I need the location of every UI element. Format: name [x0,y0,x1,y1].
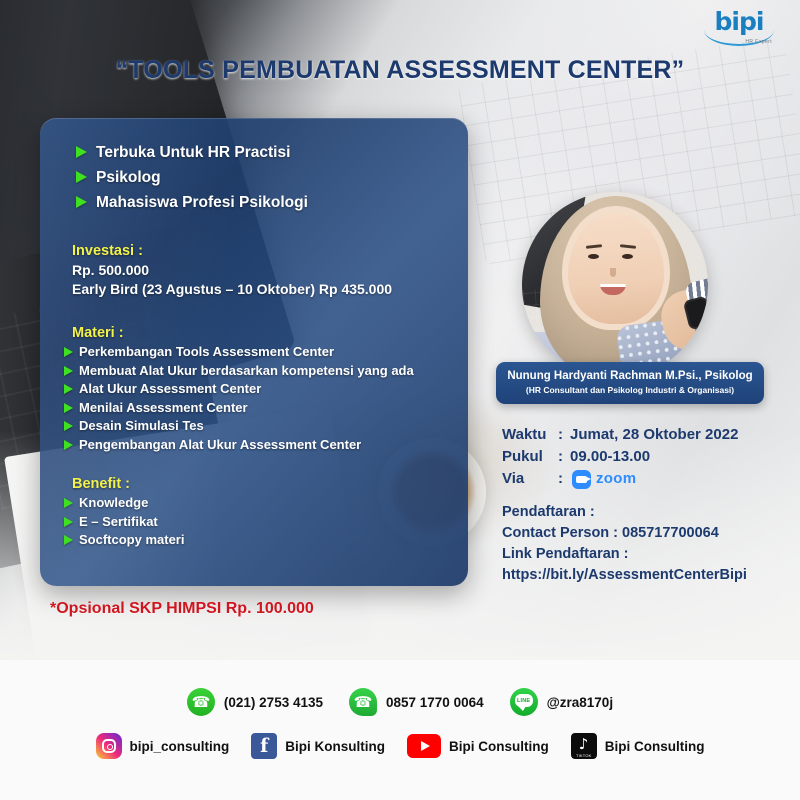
list-item: Knowledge [64,494,446,512]
page-title: “TOOLS PEMBUATAN ASSESSMENT CENTER” [0,56,800,85]
footer-background [0,660,800,800]
materi-label: Desain Simulasi Tes [79,417,204,435]
materi-heading: Materi : [72,325,446,341]
tiktok-note-glyph: ♪ [579,737,589,752]
bipi-logo-tagline: HR Expert [702,39,776,45]
audience-label: Mahasiswa Profesi Psikologi [96,192,308,213]
main-content-panel: Terbuka Untuk HR Practisi Psikolog Mahas… [40,118,468,586]
audience-label: Psikolog [96,167,161,188]
contact-line-label: @zra8170j [547,695,613,710]
arrow-bullet-icon [76,146,87,158]
social-facebook[interactable]: f Bipi Konsulting [251,733,385,759]
social-instagram-label: bipi_consulting [130,739,230,754]
arrow-bullet-icon [64,403,73,413]
registration-block: Pendaftaran : Contact Person : 085717700… [502,502,747,586]
schedule-row-pukul: Pukul : 09.00-13.00 [502,446,738,468]
phone-icon: ☎ [187,688,215,716]
via-label: Via [502,468,558,490]
arrow-bullet-icon [76,196,87,208]
bipi-logo: bipi HR Expert [702,12,776,52]
benefit-label: Knowledge [79,494,148,512]
audience-label: Terbuka Untuk HR Practisi [96,142,290,163]
spacer [64,454,446,476]
arrow-bullet-icon [64,498,73,508]
list-item: Pengembangan Alat Ukur Assessment Center [64,436,446,454]
zoom-camera-glyph [576,476,587,483]
materi-label: Pengembangan Alat Ukur Assessment Center [79,436,361,454]
arrow-bullet-icon [64,517,73,527]
instagram-icon [96,733,122,759]
tiktok-icon-label: TIKTOK [571,753,597,758]
benefit-label: Socftcopy materi [79,531,184,549]
youtube-icon [407,734,441,758]
registration-contact-person: Contact Person : 085717700064 [502,523,747,544]
list-item: Membuat Alat Ukur berdasarkan kompetensi… [64,362,446,380]
registration-link-url[interactable]: https://bit.ly/AssessmentCenterBipi [502,565,747,586]
contact-whatsapp-label: 0857 1770 0064 [386,695,484,710]
spacer [64,217,446,243]
social-youtube[interactable]: Bipi Consulting [407,734,549,758]
contact-phone-label: (021) 2753 4135 [224,695,323,710]
audience-list: Terbuka Untuk HR Practisi Psikolog Mahas… [64,142,446,213]
waktu-label: Waktu [502,424,558,446]
waktu-value: Jumat, 28 Oktober 2022 [570,424,738,446]
contact-row: ☎ (021) 2753 4135 ☎ 0857 1770 0064 LINE … [0,688,800,716]
social-tiktok[interactable]: ♪ TIKTOK Bipi Consulting [571,733,705,759]
colon-separator: : [558,446,570,468]
social-row: bipi_consulting f Bipi Konsulting Bipi C… [0,733,800,759]
zoom-logo: zoom [572,468,636,490]
materi-list: Perkembangan Tools Assessment Center Mem… [64,343,446,453]
colon-separator: : [558,424,570,446]
portrait-eye-right [622,254,633,259]
investasi-price: Rp. 500.000 [72,261,446,280]
list-item: Terbuka Untuk HR Practisi [64,142,446,163]
arrow-bullet-icon [64,366,73,376]
bipi-logo-mark: bipi [702,12,776,32]
youtube-play-glyph [421,741,430,751]
zoom-camera-icon [572,470,591,489]
arrow-bullet-icon [64,440,73,450]
poster-canvas: bipi HR Expert “TOOLS PEMBUATAN ASSESSME… [0,0,800,800]
social-facebook-label: Bipi Konsulting [285,739,385,754]
line-icon-label: LINE [515,694,533,707]
investasi-earlybird: Early Bird (23 Agustus – 10 Oktober) Rp … [72,280,446,299]
speaker-name: Nunung Hardyanti Rachman M.Psi., Psikolo… [504,369,756,383]
benefit-label: E – Sertifikat [79,513,158,531]
social-instagram[interactable]: bipi_consulting [96,733,230,759]
speaker-portrait [522,192,708,378]
contact-whatsapp[interactable]: ☎ 0857 1770 0064 [349,688,484,716]
contact-line[interactable]: LINE @zra8170j [510,688,613,716]
schedule-row-waktu: Waktu : Jumat, 28 Oktober 2022 [502,424,738,446]
skp-note: *Opsional SKP HIMPSI Rp. 100.000 [50,600,314,618]
arrow-bullet-icon [64,535,73,545]
list-item: Mahasiswa Profesi Psikologi [64,192,446,213]
materi-label: Alat Ukur Assessment Center [79,380,261,398]
arrow-bullet-icon [64,347,73,357]
list-item: Menilai Assessment Center [64,399,446,417]
tiktok-icon: ♪ TIKTOK [571,733,597,759]
colon-separator: : [558,468,570,490]
benefit-heading: Benefit : [72,476,446,492]
registration-heading: Pendaftaran : [502,502,747,523]
registration-link-label: Link Pendaftaran : [502,544,747,565]
speaker-role: (HR Consultant dan Psikolog Industri & O… [504,384,756,396]
materi-label: Menilai Assessment Center [79,399,248,417]
portrait-nose [610,268,616,277]
schedule-block: Waktu : Jumat, 28 Oktober 2022 Pukul : 0… [502,424,738,490]
list-item: E – Sertifikat [64,513,446,531]
line-icon: LINE [510,688,538,716]
investasi-heading: Investasi : [72,243,446,259]
list-item: Socftcopy materi [64,531,446,549]
list-item: Desain Simulasi Tes [64,417,446,435]
portrait-face [568,214,664,324]
via-value: zoom [596,468,636,490]
social-youtube-label: Bipi Consulting [449,739,549,754]
pukul-value: 09.00-13.00 [570,446,650,468]
contact-phone[interactable]: ☎ (021) 2753 4135 [187,688,323,716]
portrait-eye-left [588,254,599,259]
pukul-label: Pukul [502,446,558,468]
list-item: Perkembangan Tools Assessment Center [64,343,446,361]
speaker-name-badge: Nunung Hardyanti Rachman M.Psi., Psikolo… [496,362,764,404]
arrow-bullet-icon [64,421,73,431]
materi-label: Perkembangan Tools Assessment Center [79,343,334,361]
schedule-row-via: Via : zoom [502,468,738,490]
benefit-list: Knowledge E – Sertifikat Socftcopy mater… [64,494,446,549]
social-tiktok-label: Bipi Consulting [605,739,705,754]
list-item: Psikolog [64,167,446,188]
whatsapp-icon: ☎ [349,688,377,716]
materi-label: Membuat Alat Ukur berdasarkan kompetensi… [79,362,414,380]
arrow-bullet-icon [64,384,73,394]
spacer [64,299,446,325]
facebook-icon: f [251,733,277,759]
list-item: Alat Ukur Assessment Center [64,380,446,398]
arrow-bullet-icon [76,171,87,183]
